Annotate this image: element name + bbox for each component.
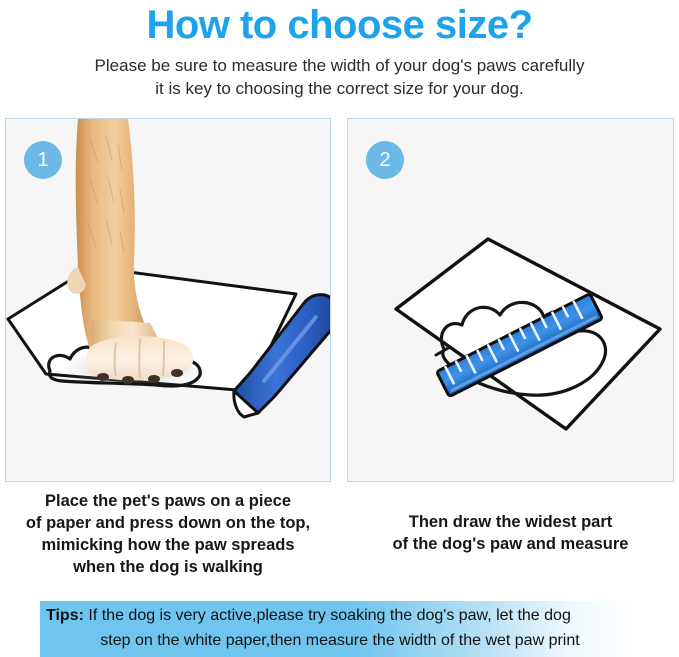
tips-box: Tips: If the dog is very active,please t…	[40, 601, 640, 657]
page-title: How to choose size?	[0, 2, 679, 48]
caption-line: of the dog's paw and measure	[347, 533, 674, 555]
tips-text-line-1: If the dog is very active,please try soa…	[88, 607, 570, 624]
caption-line: Then draw the widest part	[347, 511, 674, 533]
caption-line: mimicking how the paw spreads	[4, 534, 332, 556]
caption-line: Place the pet's paws on a piece	[4, 490, 332, 512]
tips-label: Tips:	[46, 607, 84, 624]
step-panel-1: 1 0%	[5, 118, 331, 482]
step-caption-2: Then draw the widest part of the dog's p…	[347, 511, 674, 555]
caption-line: when the dog is walking	[4, 556, 332, 578]
step-badge-1: 1	[24, 141, 62, 179]
page-subtitle-line-2: it is key to choosing the correct size f…	[0, 77, 679, 100]
step-badge-2: 2	[366, 141, 404, 179]
caption-line: of paper and press down on the top,	[4, 512, 332, 534]
tips-text-line-2: step on the white paper,then measure the…	[46, 628, 634, 653]
step-panel-2: 2	[347, 118, 674, 482]
tips-first-line: Tips: If the dog is very active,please t…	[46, 603, 634, 628]
page-subtitle-line-1: Please be sure to measure the width of y…	[0, 54, 679, 77]
page-subtitle: Please be sure to measure the width of y…	[0, 54, 679, 100]
step-caption-1: Place the pet's paws on a piece of paper…	[4, 490, 332, 578]
